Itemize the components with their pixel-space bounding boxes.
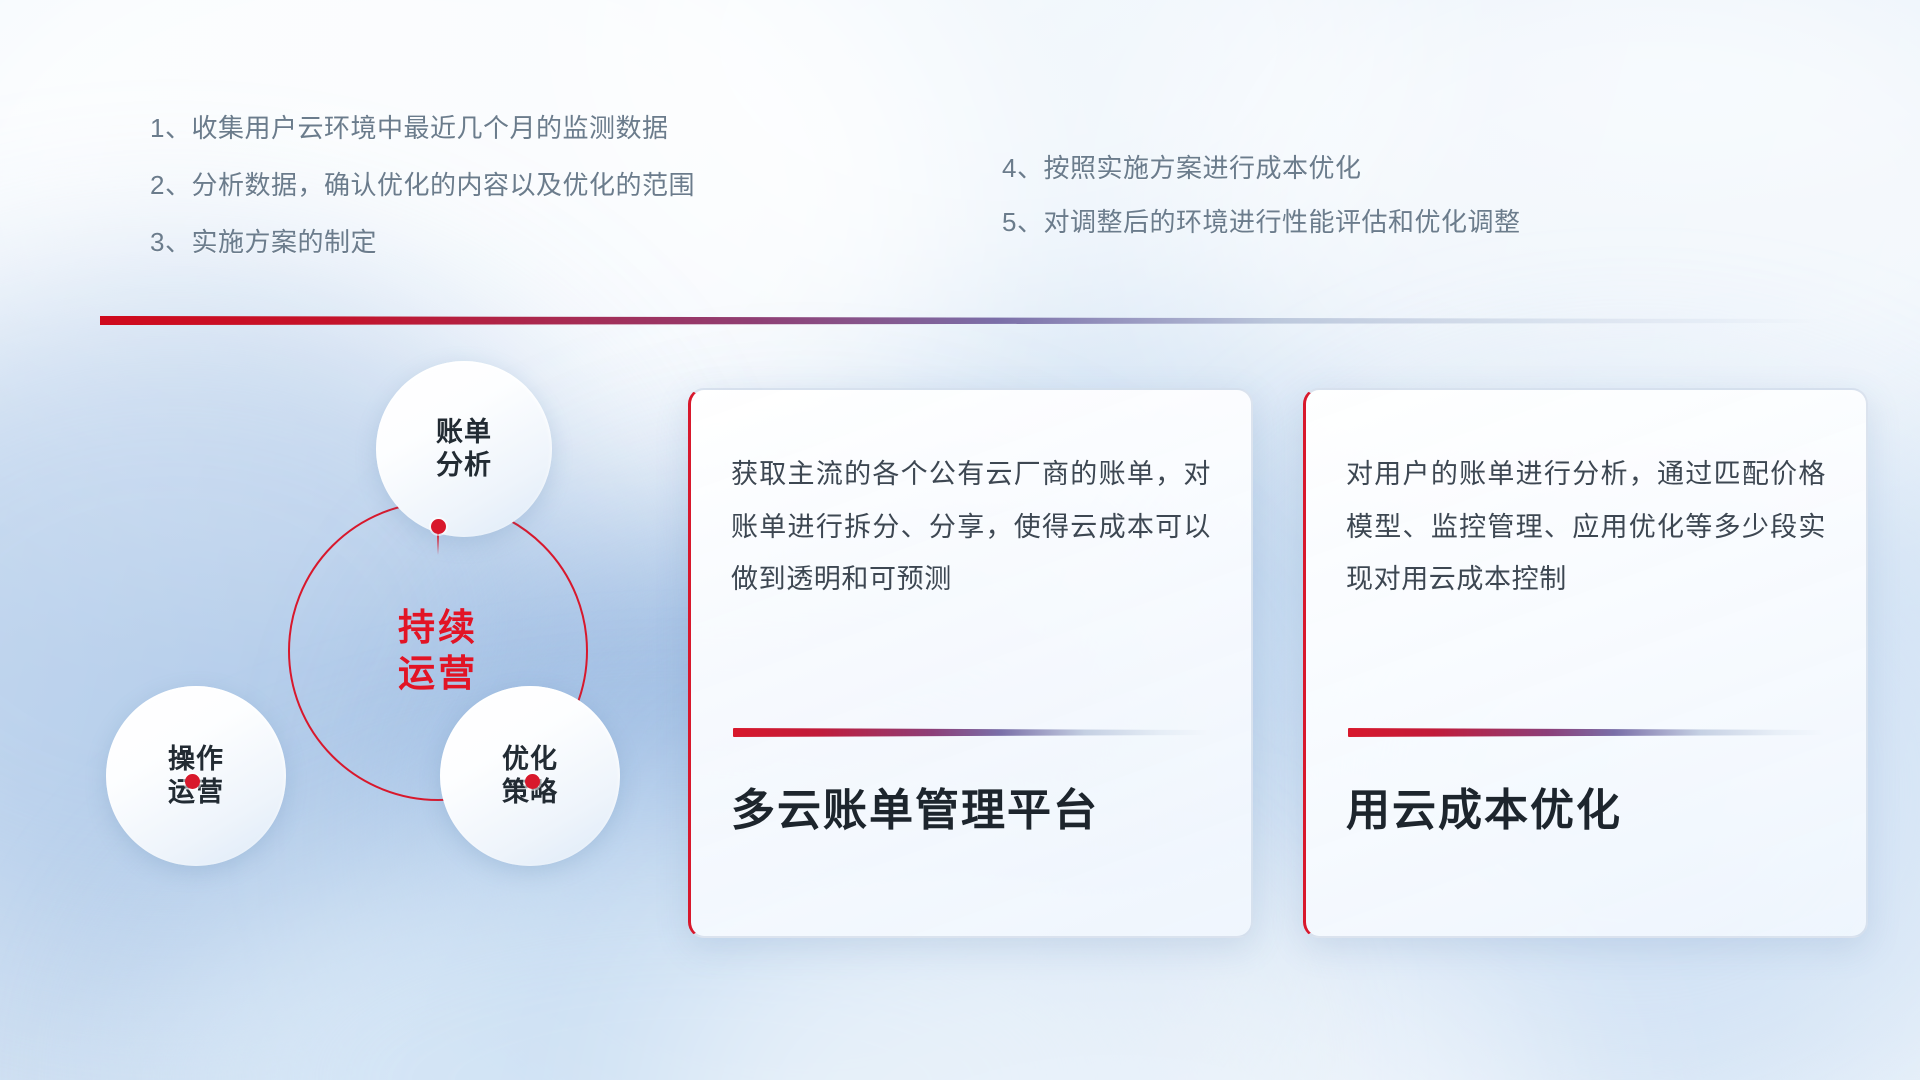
steps-right-column: 4、按照实施方案进行成本优化 5、对调整后的环境进行性能评估和优化调整 [1002, 155, 1520, 263]
card-divider [733, 728, 1209, 737]
card-description: 获取主流的各个公有云厂商的账单，对账单进行拆分、分享，使得云成本可以做到透明和可… [731, 448, 1211, 666]
venn-node-dot [431, 519, 446, 534]
step-item: 2、分析数据，确认优化的内容以及优化的范围 [150, 172, 695, 198]
card-title: 用云成本优化 [1346, 785, 1826, 838]
feature-card-cost-optimization[interactable]: 对用户的账单进行分析，通过匹配价格模型、监控管理、应用优化等多少段实现对用云成本… [1303, 388, 1868, 938]
venn-center-line2: 运营 [398, 651, 478, 697]
card-title: 多云账单管理平台 [731, 785, 1211, 838]
venn-center-label: 持续 运营 [288, 576, 588, 726]
venn-node-dot [525, 774, 540, 789]
section-divider [100, 316, 1826, 325]
venn-bubble-line1: 优化 [502, 744, 558, 774]
venn-bubble-line2: 分析 [436, 450, 492, 480]
step-item: 4、按照实施方案进行成本优化 [1002, 155, 1520, 181]
venn-bubble-label: 账单 分析 [436, 416, 492, 482]
venn-diagram: 账单 分析 操作 运营 优化 策略 持续 运营 [95, 350, 655, 940]
venn-node-dot [185, 774, 200, 789]
card-divider [1348, 728, 1824, 737]
card-description: 对用户的账单进行分析，通过匹配价格模型、监控管理、应用优化等多少段实现对用云成本… [1346, 448, 1826, 666]
step-item: 5、对调整后的环境进行性能评估和优化调整 [1002, 209, 1520, 235]
step-item: 1、收集用户云环境中最近几个月的监测数据 [150, 115, 695, 141]
feature-card-multicloud-billing[interactable]: 获取主流的各个公有云厂商的账单，对账单进行拆分、分享，使得云成本可以做到透明和可… [688, 388, 1253, 938]
step-item: 3、实施方案的制定 [150, 229, 695, 255]
venn-connector-line [437, 533, 439, 555]
steps-left-column: 1、收集用户云环境中最近几个月的监测数据 2、分析数据，确认优化的内容以及优化的… [150, 115, 695, 286]
divider-gradient-bar [100, 316, 1826, 325]
venn-bubble-billing-analysis[interactable]: 账单 分析 [376, 361, 552, 537]
venn-bubble-line1: 操作 [168, 744, 224, 774]
venn-bubble-line1: 账单 [436, 417, 492, 447]
venn-center-line1: 持续 [398, 605, 478, 651]
